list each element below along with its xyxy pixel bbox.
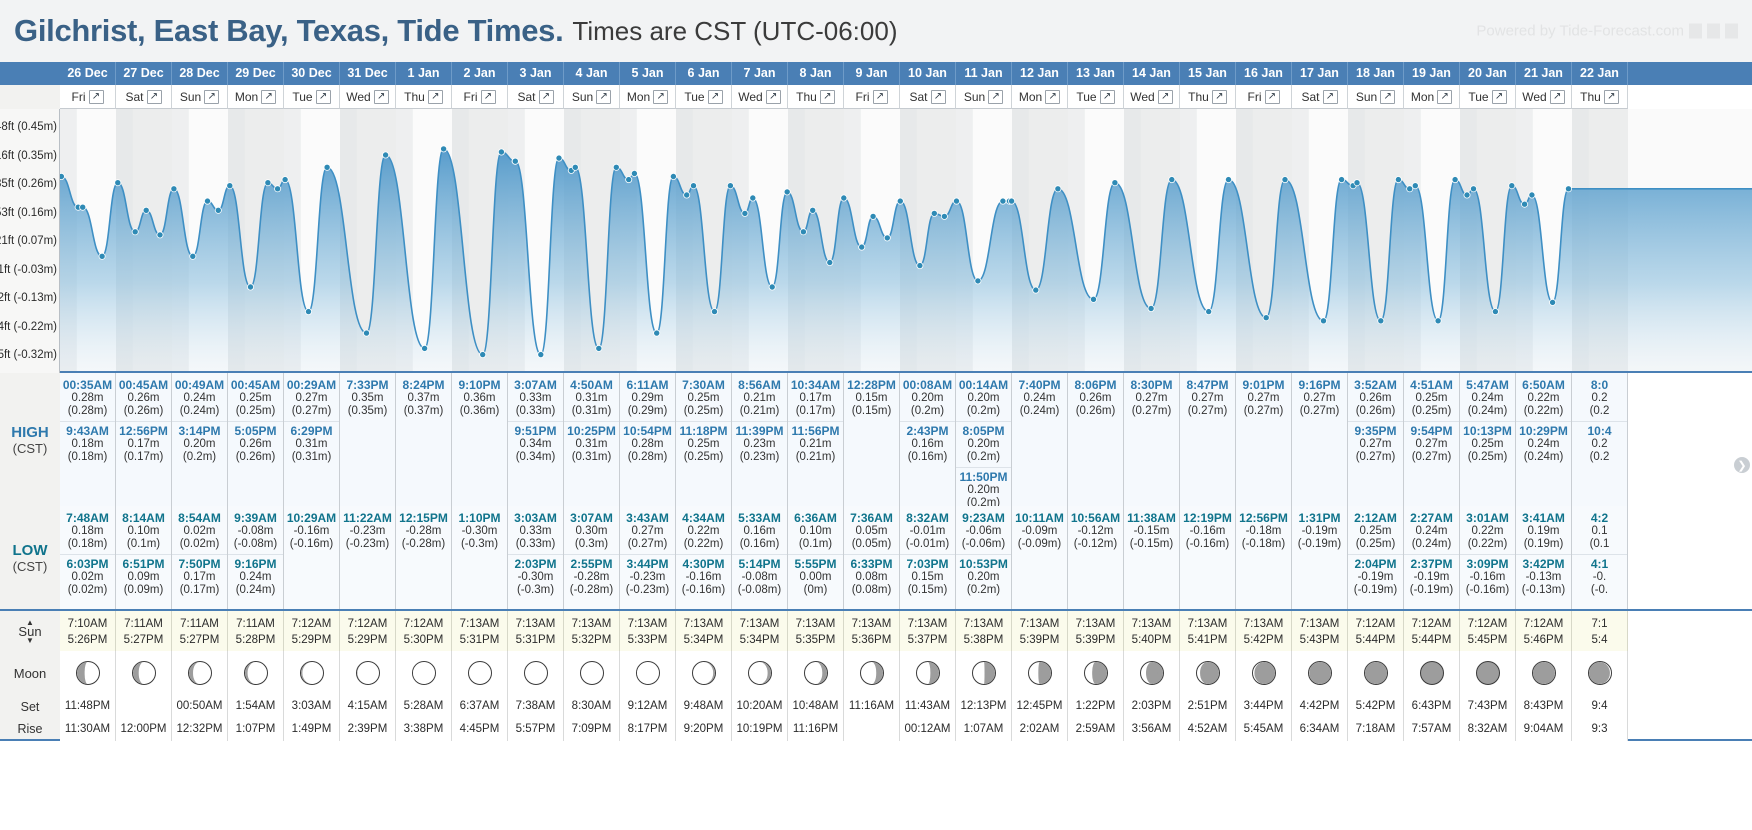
low-tide-height: -0.28m — [396, 525, 451, 538]
date-header-cell[interactable]: 3 Jan — [508, 62, 564, 85]
weekday-label: Fri — [856, 90, 870, 104]
sun-cell: 7:12AM5:29PM — [284, 611, 340, 653]
high-tide-time: 9:01PM — [1236, 378, 1291, 392]
date-header-cell[interactable]: 17 Jan — [1292, 62, 1348, 85]
sun-cell: 7:12AM5:29PM — [340, 611, 396, 653]
moon-cell — [1460, 651, 1516, 695]
date-header-cell[interactable]: 10 Jan — [900, 62, 956, 85]
weekday-label: Sat — [909, 90, 927, 104]
sunrise-time: 7:12AM — [1516, 618, 1571, 630]
low-tide-time: 3:41AM — [1516, 511, 1571, 525]
page-header: Gilchrist, East Bay, Texas, Tide Times. … — [0, 0, 1752, 62]
expand-day-icon[interactable]: ↗ — [931, 90, 946, 104]
y-axis-tick-label: -1.05ft (-0.32m) — [0, 349, 57, 361]
low-tide-height-alt: (0.18m) — [60, 538, 115, 551]
sun-cell: 7:13AM5:41PM — [1180, 611, 1236, 653]
expand-day-icon[interactable]: ↗ — [1437, 90, 1452, 104]
sun-cell: 7:13AM5:42PM — [1236, 611, 1292, 653]
sun-cell: 7:13AM5:39PM — [1068, 611, 1124, 653]
date-header-cell[interactable]: 18 Jan — [1348, 62, 1404, 85]
moon-phase-icon — [1028, 661, 1052, 685]
sunrise-time: 7:13AM — [1124, 618, 1179, 630]
high-tide-time: 5:47AM — [1460, 378, 1515, 392]
sunset-time: 5:27PM — [172, 634, 227, 646]
expand-day-icon[interactable]: ↗ — [1100, 90, 1115, 104]
low-tide-time: 10:11AM — [1012, 511, 1067, 525]
low-tide-time: 12:56PM — [1236, 511, 1291, 525]
expand-day-icon[interactable]: ↗ — [766, 90, 781, 104]
high-tide-height: 0.22m — [1516, 392, 1571, 405]
moonset-time: 00:50AM — [172, 695, 228, 718]
moon-cell — [1124, 651, 1180, 695]
high-tide-time: 11:18PM — [676, 424, 731, 438]
high-tide-height-alt: (0.28m) — [60, 405, 115, 418]
sunset-arrow-icon: ▼ — [26, 637, 34, 644]
low-tide-height-alt: (-0.18m) — [1236, 538, 1291, 551]
expand-day-icon[interactable]: ↗ — [374, 90, 389, 104]
high-tide-cell: 8:24PM0.37m(0.37m) — [396, 373, 452, 506]
high-tide-height-alt: (0.25m) — [1404, 405, 1459, 418]
date-header-cell[interactable]: 15 Jan — [1180, 62, 1236, 85]
moon-cell — [1012, 651, 1068, 695]
low-tide-height-alt: (-0.3m) — [452, 538, 507, 551]
high-tide-height: 0.26m — [116, 392, 171, 405]
high-tide-height-alt: (0.35m) — [340, 405, 395, 418]
page-title: Gilchrist, East Bay, Texas, Tide Times. — [14, 13, 563, 49]
tide-curve-plot[interactable] — [60, 109, 1752, 373]
expand-day-icon[interactable]: ↗ — [316, 90, 331, 104]
sun-cell: 7:13AM5:43PM — [1292, 611, 1348, 653]
sunrise-time: 7:10AM — [60, 618, 115, 630]
high-tide-time: 3:07AM — [508, 378, 563, 392]
moon-phase-icon — [860, 661, 884, 685]
date-header-cell[interactable]: 8 Jan — [788, 62, 844, 85]
weekday-cell: Sat↗ — [1292, 85, 1348, 109]
low-tide-time: 8:14AM — [116, 511, 171, 525]
sunset-time: 5:4 — [1572, 634, 1627, 646]
high-tide-time: 9:10PM — [452, 378, 507, 392]
high-tide-label: HIGH (CST) — [0, 373, 60, 506]
moonrise-time: 00:12AM — [900, 718, 956, 741]
moonrise-time: 8:32AM — [1460, 718, 1516, 741]
date-header-cell[interactable]: 1 Jan — [396, 62, 452, 85]
high-tide-height-alt: (0.27m) — [1180, 405, 1235, 418]
low-tide-time: 3:01AM — [1460, 511, 1515, 525]
moonrise-label: Rise — [0, 718, 60, 739]
low-tide-event: 4:34AM0.22m(0.22m) — [676, 509, 731, 554]
low-tide-time: 8:54AM — [172, 511, 227, 525]
expand-day-icon[interactable]: ↗ — [1604, 90, 1619, 104]
weekday-label: Sat — [1301, 90, 1319, 104]
sun-cell: 7:13AM5:39PM — [1012, 611, 1068, 653]
low-tide-event: 8:14AM0.10m(0.1m) — [116, 509, 171, 554]
sunset-time: 5:43PM — [1292, 634, 1347, 646]
low-tide-time: 6:36AM — [788, 511, 843, 525]
moon-cell — [564, 651, 620, 695]
expand-day-icon[interactable]: ↗ — [596, 90, 611, 104]
high-tide-time: 8:30PM — [1124, 378, 1179, 392]
moon-phase-icon — [1252, 661, 1276, 685]
date-header-cell[interactable]: 31 Dec — [340, 62, 396, 85]
low-tide-height-alt: (-0.09m) — [1012, 538, 1067, 551]
moonset-time: 9:12AM — [620, 695, 676, 718]
moon-phase-icon — [972, 661, 996, 685]
sunrise-time: 7:13AM — [1068, 618, 1123, 630]
high-tide-height: 0.21m — [732, 392, 787, 405]
high-tide-event: 10:25PM0.31m(0.31m) — [564, 421, 619, 467]
high-tide-time: 8:06PM — [1068, 378, 1123, 392]
date-header-cell[interactable]: 14 Jan — [1124, 62, 1180, 85]
high-tide-event: 00:29AM0.27m(0.27m) — [284, 376, 339, 421]
high-tide-event: 10:29PM0.24m(0.24m) — [1516, 421, 1571, 467]
moon-row: Moon — [0, 651, 1752, 695]
expand-day-icon[interactable]: ↗ — [1212, 90, 1227, 104]
moon-cell — [396, 651, 452, 695]
expand-day-icon[interactable]: ↗ — [1323, 90, 1338, 104]
sunrise-time: 7:13AM — [956, 618, 1011, 630]
date-header-cell[interactable]: 16 Jan — [1236, 62, 1292, 85]
sun-cell: 7:10AM5:26PM — [60, 611, 116, 653]
high-tide-event: 11:39PM0.23m(0.23m) — [732, 421, 787, 467]
moonset-time: 6:37AM — [452, 695, 508, 718]
low-tide-event: 7:03PM0.15m(0.15m) — [900, 554, 955, 600]
weekday-label: Wed — [1522, 90, 1546, 104]
moon-cell — [228, 651, 284, 695]
high-tide-cell: 7:33PM0.35m(0.35m) — [340, 373, 396, 506]
high-tide-time: 00:14AM — [956, 378, 1011, 392]
high-tide-height-alt: (0.27m) — [1292, 405, 1347, 418]
expand-day-icon[interactable]: ↗ — [1380, 90, 1395, 104]
low-tide-event: 11:22AM-0.23m(-0.23m) — [340, 509, 395, 554]
low-tide-height: -0.13m — [1516, 571, 1571, 584]
moonset-time: 7:43PM — [1460, 695, 1516, 718]
weekday-label: Sun — [180, 90, 201, 104]
weekday-label: Fri — [464, 90, 478, 104]
moon-phase-icon — [692, 661, 716, 685]
low-tide-cell: 4:34AM0.22m(0.22m)4:30PM-0.16m(-0.16m) — [676, 506, 732, 609]
date-header-cell[interactable]: 6 Jan — [676, 62, 732, 85]
date-header-cell[interactable]: 30 Dec — [284, 62, 340, 85]
low-tide-cell: 12:19PM-0.16m(-0.16m) — [1180, 506, 1236, 609]
high-tide-height-alt: (0.24m) — [172, 405, 227, 418]
high-tide-height-alt: (0.26m) — [1068, 405, 1123, 418]
high-tide-event: 11:50PM0.20m(0.2m) — [956, 467, 1011, 506]
low-tide-cell: 2:12AM0.25m(0.25m)2:04PM-0.19m(-0.19m) — [1348, 506, 1404, 609]
sunset-time: 5:39PM — [1068, 634, 1123, 646]
low-tide-event: 11:38AM-0.15m(-0.15m) — [1124, 509, 1179, 554]
low-tide-height: 0.20m — [956, 571, 1011, 584]
weekday-cell: Thu↗ — [788, 85, 844, 109]
low-tide-time: 10:29AM — [284, 511, 339, 525]
low-tide-cell: 7:48AM0.18m(0.18m)6:03PM0.02m(0.02m) — [60, 506, 116, 609]
low-tide-height: -0.28m — [564, 571, 619, 584]
high-tide-event: 00:49AM0.24m(0.24m) — [172, 376, 227, 421]
sunrise-time: 7:13AM — [564, 618, 619, 630]
low-tide-height: -0.08m — [732, 571, 787, 584]
low-tide-height-alt: (-0.16m) — [1460, 584, 1515, 597]
moon-phase-icon — [468, 661, 492, 685]
high-tide-event: 12:56PM0.17m(0.17m) — [116, 421, 171, 467]
high-tide-height-alt: (0.31m) — [564, 451, 619, 464]
y-axis-tick-label: -0.1ft (-0.03m) — [0, 264, 57, 276]
high-tide-height-alt: (0.27m) — [1236, 405, 1291, 418]
sun-cell: 7:12AM5:30PM — [396, 611, 452, 653]
y-axis-tick-label: -0.74ft (-0.22m) — [0, 321, 57, 333]
low-tide-time: 4:30PM — [676, 557, 731, 571]
moonset-time: 10:48AM — [788, 695, 844, 718]
high-tide-time: 12:28PM — [844, 378, 899, 392]
high-tide-height: 0.27m — [284, 392, 339, 405]
low-tide-height: -0.08m — [228, 525, 283, 538]
high-tide-time: 4:50AM — [564, 378, 619, 392]
tide-curve-svg — [60, 109, 1752, 373]
low-tide-height: -0.06m — [956, 525, 1011, 538]
high-tide-height: 0.26m — [228, 438, 283, 451]
moonrise-row: Rise 11:30AM12:00PM12:32PM1:07PM1:49PM2:… — [0, 718, 1752, 741]
high-tide-time: 10:29PM — [1516, 424, 1571, 438]
moon-phase-icon — [748, 661, 772, 685]
sun-cell: 7:13AM5:36PM — [844, 611, 900, 653]
low-tide-time: 11:38AM — [1124, 511, 1179, 525]
moon-cell — [676, 651, 732, 695]
expand-day-icon[interactable]: ↗ — [1492, 90, 1507, 104]
high-tide-event: 9:01PM0.27m(0.27m) — [1236, 376, 1291, 421]
low-tide-time: 9:39AM — [228, 511, 283, 525]
high-tide-height-alt: (0.36m) — [452, 405, 507, 418]
high-tide-event: 10:54PM0.28m(0.28m) — [620, 421, 675, 467]
sunset-time: 5:34PM — [732, 634, 787, 646]
tide-table: 26 Dec27 Dec28 Dec29 Dec30 Dec31 Dec1 Ja… — [0, 62, 1752, 830]
moonset-time: 9:48AM — [676, 695, 732, 718]
weekday-cell: Fri↗ — [60, 85, 116, 109]
moon-cell — [1404, 651, 1460, 695]
sunrise-time: 7:13AM — [844, 618, 899, 630]
low-tide-time: 12:19PM — [1180, 511, 1235, 525]
moonset-time: 2:03PM — [1124, 695, 1180, 718]
moonset-time: 11:16AM — [844, 695, 900, 718]
moon-cell — [1180, 651, 1236, 695]
scroll-right-handle[interactable]: ❯ — [1734, 457, 1750, 473]
low-tide-cell: 11:38AM-0.15m(-0.15m) — [1124, 506, 1180, 609]
sunrise-time: 7:13AM — [1180, 618, 1235, 630]
low-tide-event: 8:54AM0.02m(0.02m) — [172, 509, 227, 554]
date-header-cell[interactable]: 7 Jan — [732, 62, 788, 85]
low-tide-cell: 11:22AM-0.23m(-0.23m) — [340, 506, 396, 609]
weekday-cell: Tue↗ — [1068, 85, 1124, 109]
low-tide-event: 12:19PM-0.16m(-0.16m) — [1180, 509, 1235, 554]
moon-phase-icon — [1308, 661, 1332, 685]
moon-cell — [172, 651, 228, 695]
expand-day-icon[interactable]: ↗ — [1550, 90, 1565, 104]
expand-day-icon[interactable]: ↗ — [1265, 90, 1280, 104]
high-tide-time: 00:45AM — [116, 378, 171, 392]
date-header-cell[interactable]: 13 Jan — [1068, 62, 1124, 85]
date-header-cell[interactable]: 9 Jan — [844, 62, 900, 85]
high-tide-time: 7:30AM — [676, 378, 731, 392]
sun-cell: 7:11AM5:27PM — [172, 611, 228, 653]
date-header-cell[interactable]: 2 Jan — [452, 62, 508, 85]
high-tide-height: 0.2 — [1572, 392, 1627, 405]
high-tide-height-alt: (0.2m) — [172, 451, 227, 464]
date-header-cell[interactable]: 22 Jan — [1572, 62, 1628, 85]
sunset-time: 5:44PM — [1404, 634, 1459, 646]
high-tide-cell: 00:35AM0.28m(0.28m)9:43AM0.18m(0.18m) — [60, 373, 116, 506]
expand-day-icon[interactable]: ↗ — [539, 90, 554, 104]
low-tide-event: 8:32AM-0.01m(-0.01m) — [900, 509, 955, 554]
high-tide-height: 0.26m — [1068, 392, 1123, 405]
moonset-time: 3:44PM — [1236, 695, 1292, 718]
moon-cell — [60, 651, 116, 695]
sunrise-time: 7:11AM — [172, 618, 227, 630]
low-tide-time: 2:04PM — [1348, 557, 1403, 571]
high-tide-event: 9:43AM0.18m(0.18m) — [60, 421, 115, 467]
low-tide-height: 0.30m — [564, 525, 619, 538]
weekday-label: Tue — [292, 90, 312, 104]
high-tide-height-alt: (0.28m) — [620, 451, 675, 464]
high-tide-event: 9:54PM0.27m(0.27m) — [1404, 421, 1459, 467]
low-tide-height-alt: (-0.08m) — [732, 584, 787, 597]
high-tide-height: 0.20m — [956, 438, 1011, 451]
low-tide-height-alt: (0.1m) — [788, 538, 843, 551]
moon-phase-icon — [356, 661, 380, 685]
date-header-cell[interactable]: 20 Jan — [1460, 62, 1516, 85]
high-tide-time: 10:13PM — [1460, 424, 1515, 438]
low-tide-cell: 3:07AM0.30m(0.3m)2:55PM-0.28m(-0.28m) — [564, 506, 620, 609]
date-header-cell[interactable]: 27 Dec — [116, 62, 172, 85]
low-tide-height: 0.05m — [844, 525, 899, 538]
high-tide-height-alt: (0.2m) — [956, 451, 1011, 464]
high-tide-time: 00:49AM — [172, 378, 227, 392]
moon-phase-icon — [1588, 661, 1612, 685]
header-watermark-text: Powered by Tide-Forecast.com — [1476, 23, 1684, 40]
low-label-tz: (CST) — [13, 559, 48, 574]
expand-day-icon[interactable]: ↗ — [820, 90, 835, 104]
expand-day-icon[interactable]: ↗ — [89, 90, 104, 104]
low-tide-height: -0.16m — [676, 571, 731, 584]
high-tide-event: 00:45AM0.26m(0.26m) — [116, 376, 171, 421]
low-tide-height: -0.16m — [284, 525, 339, 538]
date-header-cell[interactable]: 11 Jan — [956, 62, 1012, 85]
high-tide-time: 9:54PM — [1404, 424, 1459, 438]
high-tide-height-alt: (0.23m) — [732, 451, 787, 464]
expand-day-icon[interactable]: ↗ — [1158, 90, 1173, 104]
expand-day-icon[interactable]: ↗ — [481, 90, 496, 104]
high-tide-height: 0.27m — [1180, 392, 1235, 405]
high-tide-event: 8:24PM0.37m(0.37m) — [396, 376, 451, 421]
high-tide-cell: 8:56AM0.21m(0.21m)11:39PM0.23m(0.23m) — [732, 373, 788, 506]
low-tide-time: 7:03PM — [900, 557, 955, 571]
low-tide-time: 3:07AM — [564, 511, 619, 525]
sunset-time: 5:30PM — [396, 634, 451, 646]
high-tide-height-alt: (0.18m) — [60, 451, 115, 464]
date-header-cell[interactable]: 5 Jan — [620, 62, 676, 85]
low-tide-height: -0.01m — [900, 525, 955, 538]
moon-label: Moon — [0, 651, 60, 695]
expand-day-icon[interactable]: ↗ — [428, 90, 443, 104]
low-tide-time: 8:32AM — [900, 511, 955, 525]
high-tide-height-alt: (0.29m) — [620, 405, 675, 418]
low-tide-cell: 3:43AM0.27m(0.27m)3:44PM-0.23m(-0.23m) — [620, 506, 676, 609]
expand-day-icon[interactable]: ↗ — [988, 90, 1003, 104]
expand-day-icon[interactable]: ↗ — [204, 90, 219, 104]
low-tide-height-alt: (0.25m) — [1348, 538, 1403, 551]
moonrise-time: 8:17PM — [620, 718, 676, 741]
moonset-time: 9:4 — [1572, 695, 1628, 718]
high-tide-time: 11:56PM — [788, 424, 843, 438]
moon-cell — [284, 651, 340, 695]
date-header-cell[interactable]: 26 Dec — [60, 62, 116, 85]
expand-day-icon[interactable]: ↗ — [873, 90, 888, 104]
high-tide-height-alt: (0.17m) — [116, 451, 171, 464]
expand-day-icon[interactable]: ↗ — [261, 90, 276, 104]
sun-cell: 7:11AM5:27PM — [116, 611, 172, 653]
low-tide-height-alt: (0.15m) — [900, 584, 955, 597]
header-watermark: Powered by Tide-Forecast.com — [1476, 23, 1738, 40]
date-header-cell[interactable]: 12 Jan — [1012, 62, 1068, 85]
moon-cell — [508, 651, 564, 695]
high-tide-cell: 4:51AM0.25m(0.25m)9:54PM0.27m(0.27m) — [1404, 373, 1460, 506]
date-header-cell[interactable]: 4 Jan — [564, 62, 620, 85]
expand-day-icon[interactable]: ↗ — [147, 90, 162, 104]
expand-day-icon[interactable]: ↗ — [1045, 90, 1060, 104]
moonset-time: 4:15AM — [340, 695, 396, 718]
high-tide-height: 0.2 — [1572, 438, 1627, 451]
sunrise-time: 7:13AM — [1236, 618, 1291, 630]
low-tide-cell: 7:36AM0.05m(0.05m)6:33PM0.08m(0.08m) — [844, 506, 900, 609]
date-header-cell[interactable]: 29 Dec — [228, 62, 284, 85]
low-tide-cell: 9:23AM-0.06m(-0.06m)10:53PM0.20m(0.2m) — [956, 506, 1012, 609]
moonrise-time: 2:59AM — [1068, 718, 1124, 741]
high-tide-event: 9:16PM0.27m(0.27m) — [1292, 376, 1347, 421]
low-tide-height: 0.24m — [228, 571, 283, 584]
low-tide-cell: 5:33AM0.16m(0.16m)5:14PM-0.08m(-0.08m) — [732, 506, 788, 609]
sunrise-time: 7:13AM — [900, 618, 955, 630]
weekday-label: Thu — [404, 90, 425, 104]
moonset-label: Set — [0, 695, 60, 718]
moonrise-time — [844, 718, 900, 741]
expand-day-icon[interactable]: ↗ — [653, 90, 668, 104]
moonrise-time: 7:18AM — [1348, 718, 1404, 741]
page-subtitle: Times are CST (UTC-06:00) — [572, 16, 897, 47]
moonrise-time: 1:07PM — [228, 718, 284, 741]
low-tide-time: 5:33AM — [732, 511, 787, 525]
moon-cell — [732, 651, 788, 695]
sunset-time: 5:34PM — [676, 634, 731, 646]
high-tide-cell: 00:14AM0.20m(0.2m)8:05PM0.20m(0.2m)11:50… — [956, 373, 1012, 506]
date-header-cell[interactable]: 21 Jan — [1516, 62, 1572, 85]
high-tide-height: 0.18m — [60, 438, 115, 451]
sunrise-time: 7:13AM — [452, 618, 507, 630]
high-tide-event: 00:14AM0.20m(0.2m) — [956, 376, 1011, 421]
low-tide-time: 4:2 — [1572, 511, 1627, 525]
low-tide-cell: 10:29AM-0.16m(-0.16m) — [284, 506, 340, 609]
date-header-cell[interactable]: 28 Dec — [172, 62, 228, 85]
expand-day-icon[interactable]: ↗ — [708, 90, 723, 104]
high-tide-cell: 12:28PM0.15m(0.15m) — [844, 373, 900, 506]
high-tide-height-alt: (0.25m) — [228, 405, 283, 418]
low-tide-height: 0.33m — [508, 525, 563, 538]
date-header-cell[interactable]: 19 Jan — [1404, 62, 1460, 85]
low-tide-height-alt: (0m) — [788, 584, 843, 597]
moonrise-time: 4:52AM — [1180, 718, 1236, 741]
high-tide-time: 9:43AM — [60, 424, 115, 438]
sunset-time: 5:28PM — [228, 634, 283, 646]
low-tide-height: 0.22m — [676, 525, 731, 538]
watermark-logo-icon-1 — [1689, 24, 1702, 39]
y-axis: 1.48ft (0.45m)1.16ft (0.35m)0.85ft (0.26… — [0, 109, 60, 373]
low-tide-event: 5:14PM-0.08m(-0.08m) — [732, 554, 787, 600]
low-tide-event: 3:03AM0.33m(0.33m) — [508, 509, 563, 554]
